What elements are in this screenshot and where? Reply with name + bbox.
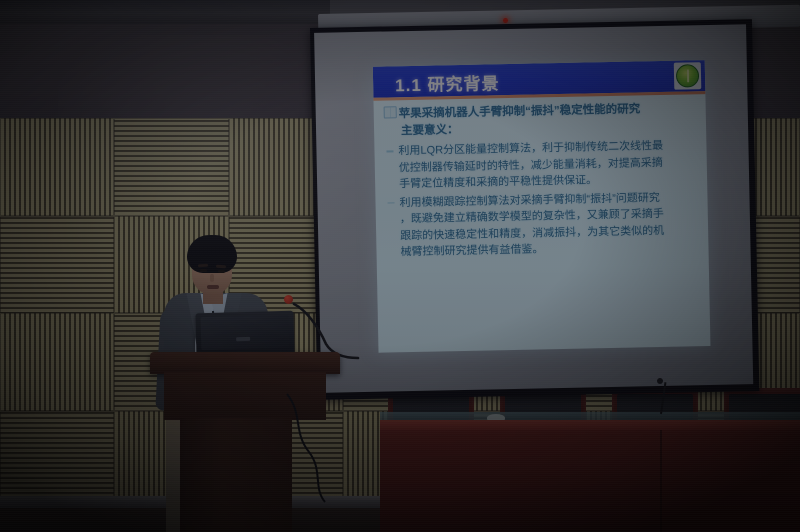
wall-panel [0, 411, 114, 509]
slide-lead-text: 苹果采摘机器人手臂抑制“振抖”稳定性能的研究 [399, 103, 641, 120]
nose [210, 274, 214, 282]
lectern-column [180, 418, 292, 532]
table-microphone-icon [657, 378, 663, 384]
power-led-icon [503, 18, 508, 23]
wall-panel [0, 118, 114, 216]
slide-title: 1.1 研究背景 [395, 69, 500, 96]
wall-panel [0, 216, 114, 314]
microphone-windscreen-icon [284, 295, 293, 304]
dash-bullet-icon [386, 150, 393, 152]
conference-room-photo: Micro Screen 1.1 研究背景 苹果采摘机器人手臂抑制“振抖”稳定性… [0, 0, 800, 532]
slide-body: 苹果采摘机器人手臂抑制“振抖”稳定性能的研究主要意义：利用LQR分区能量控制算法… [374, 96, 711, 351]
slide-bullet: 利用LQR分区能量控制算法，利于抑制传统二次线性最优控制器传输延时的特性，减少能… [384, 137, 699, 193]
university-emblem-icon [674, 62, 702, 90]
eye-right [218, 270, 225, 273]
lectern-top [150, 352, 340, 374]
gooseneck-microphone [292, 300, 362, 360]
presenter-hair [187, 235, 237, 273]
projection-screen: 1.1 研究背景 苹果采摘机器人手臂抑制“振抖”稳定性能的研究主要意义：利用LQ… [310, 19, 759, 400]
book-bullet-icon [384, 106, 397, 118]
conference-table [380, 420, 800, 532]
presenter-laptop [195, 311, 294, 358]
eye-left [200, 269, 207, 272]
laptop-screen [201, 315, 290, 350]
dash-bullet-icon [388, 202, 395, 204]
table-top-edge [380, 420, 800, 430]
wall-panel [0, 313, 114, 411]
table-panel-seam [660, 430, 662, 532]
screen-surface: 1.1 研究背景 苹果采摘机器人手臂抑制“振抖”稳定性能的研究主要意义：利用LQ… [314, 24, 753, 393]
wall-panel [114, 118, 228, 216]
emblem-circle [676, 64, 699, 87]
presentation-slide: 1.1 研究背景 苹果采摘机器人手臂抑制“振抖”稳定性能的研究主要意义：利用LQ… [373, 60, 711, 353]
slide-bullet: 利用模糊跟踪控制算法对采摘手臂抑制“振抖”问题研究，既避免建立精确数学模型的复杂… [385, 189, 700, 261]
mouth [207, 285, 219, 289]
slide-lead-text: 主要意义： [401, 124, 459, 137]
laptop-logo-icon [236, 337, 250, 341]
slide-lead-paragraph: 苹果采摘机器人手臂抑制“振抖”稳定性能的研究主要意义： [384, 100, 699, 140]
power-cable [283, 392, 375, 504]
